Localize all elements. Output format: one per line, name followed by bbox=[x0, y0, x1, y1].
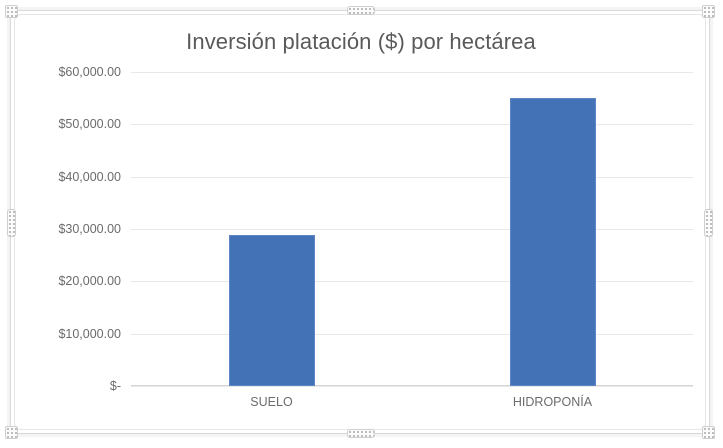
plot-area[interactable] bbox=[131, 72, 693, 386]
y-axis-tick-label: $40,000.00 bbox=[11, 170, 121, 184]
gridline bbox=[131, 334, 693, 335]
chart-title[interactable]: Inversión platación ($) por hectárea bbox=[11, 29, 711, 55]
y-axis-tick-label: $20,000.00 bbox=[11, 274, 121, 288]
y-axis-tick-label: $- bbox=[11, 379, 121, 393]
chart-plot-container[interactable]: Inversión platación ($) por hectárea $60… bbox=[11, 11, 711, 435]
gridline bbox=[131, 386, 693, 387]
gridline bbox=[131, 124, 693, 125]
x-axis-tick-labels[interactable]: SUELOHIDROPONÍA bbox=[131, 395, 693, 421]
bar-hidropon-a[interactable] bbox=[510, 98, 596, 386]
gridline bbox=[131, 177, 693, 178]
gridline bbox=[131, 229, 693, 230]
chart-object[interactable]: Inversión platación ($) por hectárea $60… bbox=[10, 10, 710, 434]
gridline bbox=[131, 281, 693, 282]
x-axis-tick-label: HIDROPONÍA bbox=[513, 395, 592, 409]
y-axis-tick-label: $30,000.00 bbox=[11, 222, 121, 236]
y-axis-tick-label: $10,000.00 bbox=[11, 327, 121, 341]
y-axis-tick-labels[interactable]: $60,000.00$50,000.00$40,000.00$30,000.00… bbox=[11, 72, 121, 386]
bar-suelo[interactable] bbox=[229, 235, 315, 386]
x-axis-tick-label: SUELO bbox=[250, 395, 292, 409]
y-axis-tick-label: $60,000.00 bbox=[11, 65, 121, 79]
y-axis-tick-label: $50,000.00 bbox=[11, 117, 121, 131]
gridline bbox=[131, 72, 693, 73]
